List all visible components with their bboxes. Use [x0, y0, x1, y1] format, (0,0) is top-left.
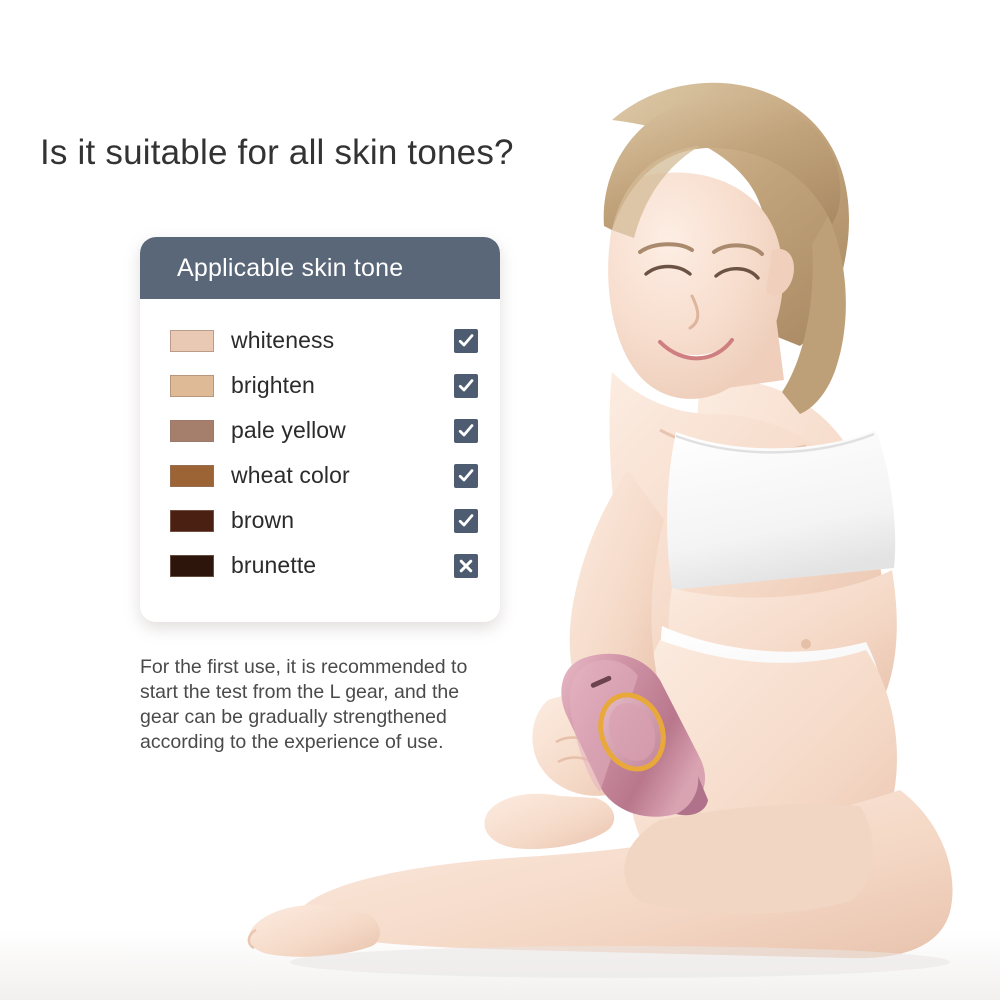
usage-note-line: gear can be gradually strengthened [140, 705, 530, 730]
check-icon [454, 374, 478, 398]
card-header: Applicable skin tone [140, 237, 500, 299]
usage-note: For the first use, it is recommended to … [140, 655, 530, 755]
cross-icon [454, 554, 478, 578]
page-title: Is it suitable for all skin tones? [40, 133, 514, 173]
check-icon [454, 329, 478, 353]
navel [801, 639, 811, 649]
skin-swatch [170, 465, 214, 487]
skin-tone-label: brown [231, 507, 454, 534]
product-infographic: Is it suitable for all skin tones? Appli… [0, 0, 1000, 1000]
skin-tone-list: whiteness brighten pale yellow [140, 299, 500, 622]
applicable-skin-tone-card: Applicable skin tone whiteness brighten … [140, 237, 500, 622]
table-row: brunette [140, 543, 500, 588]
skin-tone-label: brunette [231, 552, 454, 579]
calf-behind [624, 804, 873, 914]
table-row: brown [140, 498, 500, 543]
table-row: pale yellow [140, 408, 500, 453]
usage-note-line: start the test from the L gear, and the [140, 680, 530, 705]
skin-tone-label: wheat color [231, 462, 454, 489]
check-icon [454, 464, 478, 488]
skin-tone-label: brighten [231, 372, 454, 399]
table-row: brighten [140, 363, 500, 408]
usage-note-line: For the first use, it is recommended to [140, 655, 530, 680]
skin-tone-label: pale yellow [231, 417, 454, 444]
skin-swatch [170, 510, 214, 532]
check-icon [454, 509, 478, 533]
usage-note-line: according to the experience of use. [140, 730, 530, 755]
skin-tone-label: whiteness [231, 327, 454, 354]
skin-swatch [170, 420, 214, 442]
table-row: whiteness [140, 318, 500, 363]
check-icon [454, 419, 478, 443]
skin-swatch [170, 375, 214, 397]
floor-shadow [290, 946, 950, 978]
table-row: wheat color [140, 453, 500, 498]
skin-swatch [170, 555, 214, 577]
skin-swatch [170, 330, 214, 352]
card-header-title: Applicable skin tone [177, 254, 403, 283]
strapless-top [667, 430, 895, 590]
